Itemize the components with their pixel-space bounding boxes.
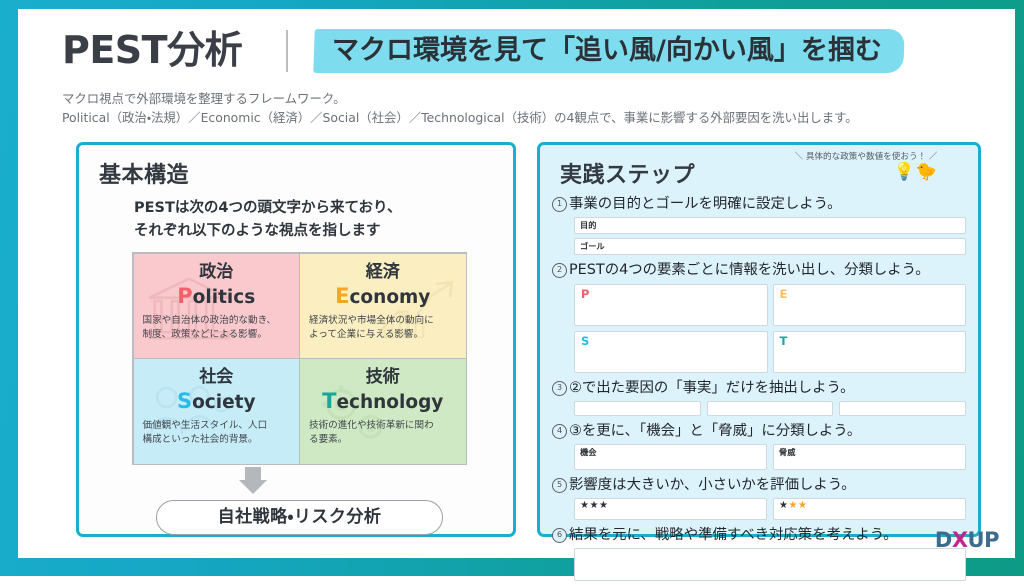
step-item-2: 2PESTの4つの要素ごとに情報を洗い出し、分類しよう。 P E S xyxy=(552,259,966,373)
pest-initial-p: P xyxy=(177,284,192,308)
pest-desc-line-2: る要素。 xyxy=(309,433,457,447)
pest-cell-desc: 経済状況や市場全体の動向に よって企業に与える影響。 xyxy=(309,314,457,342)
pest-cell-title-en: Technology xyxy=(309,388,457,416)
purpose-label: 目的 xyxy=(580,220,596,230)
countermeasure-input[interactable] xyxy=(574,548,966,581)
pest-desc-line-1: 経済状況や市場全体の動向に xyxy=(309,314,457,328)
step-item-6: 6結果を元に、戦略や準備すべき対応策を考えよう。 xyxy=(552,524,966,581)
impact-rating-input-2[interactable]: ★★★ xyxy=(773,498,966,520)
pest-initial-e: E xyxy=(335,284,349,308)
subtitle-line-1: マクロ視点で外部環境を整理するフレームワーク。 xyxy=(62,89,995,108)
impact-rating-input-1[interactable]: ★★★ xyxy=(574,498,767,520)
fact-input-1[interactable] xyxy=(574,401,701,416)
pest-cell-society: 社会 Society 価値観や生活スタイル、人口 構成といった社会的背景。 xyxy=(133,358,301,465)
pest-cell-politics: 政治 Politics 国家や自治体の政治的な動き、 制度、政策などによる影響。 xyxy=(133,253,301,360)
pest-desc-line-1: 国家や自治体の政治的な動き、 xyxy=(143,314,291,328)
star-rating-2: ★★★ xyxy=(779,500,807,512)
step-4-fields: 機会 脅威 xyxy=(574,444,966,470)
opportunity-input[interactable]: 機会 xyxy=(574,444,767,470)
step-number: 5 xyxy=(552,478,567,493)
page-subtitle: マクロ視点で外部環境を整理するフレームワーク。 Political（政治・法規）… xyxy=(62,89,995,127)
opportunity-label: 機会 xyxy=(580,447,596,457)
lead-line-1: PESTは次の4つの頭文字から来ており、 xyxy=(134,197,499,220)
pest-rest-t: echnology xyxy=(336,392,443,413)
step-5-fields: ★★★ ★★★ xyxy=(574,498,966,520)
threat-label: 脅威 xyxy=(779,447,795,457)
pest-cell-title-jp: 技術 xyxy=(309,366,457,388)
slide-canvas: PEST分析 マクロ環境を見て「追い風/向かい風」を掴む マクロ視点で外部環境を… xyxy=(18,9,1015,558)
title-banner-wrapper: マクロ環境を見て「追い風/向かい風」を掴む xyxy=(314,29,904,73)
title-divider xyxy=(286,30,288,72)
step-title: 4③を更に、「機会」と「脅威」に分類しよう。 xyxy=(552,420,966,442)
subtitle-line-2: Political（政治・法規）／Economic（経済）／Social（社会）… xyxy=(62,108,995,127)
step-item-1: 1事業の目的とゴールを明確に設定しよう。 目的 ゴール xyxy=(552,193,966,255)
pest-cell-title-en: Economy xyxy=(309,283,457,311)
step-3-fields xyxy=(574,401,966,416)
step-title: 6結果を元に、戦略や準備すべき対応策を考えよう。 xyxy=(552,524,966,546)
pest-cell-title-en: Society xyxy=(143,388,291,416)
step-title: 1事業の目的とゴールを明確に設定しよう。 xyxy=(552,193,966,215)
pest-input-letter-e: E xyxy=(780,288,788,301)
pest-initial-t: T xyxy=(322,389,336,413)
slide-background: PEST分析 マクロ環境を見て「追い風/向かい風」を掴む マクロ視点で外部環境を… xyxy=(0,0,1024,576)
pest-input-t[interactable]: T xyxy=(773,331,967,373)
step-number: 2 xyxy=(552,263,567,278)
goal-input[interactable]: ゴール xyxy=(574,238,966,255)
pest-cell-economy: 経済 Economy 経済状況や市場全体の動向に よって企業に与える影響。 xyxy=(299,253,467,360)
pest-desc-line-2: よって企業に与える影響。 xyxy=(309,328,457,342)
fact-input-2[interactable] xyxy=(707,401,834,416)
step-title-text: ③を更に、「機会」と「脅威」に分類しよう。 xyxy=(569,423,861,439)
basic-structure-heading: 基本構造 xyxy=(99,157,189,189)
step-title: 5影響度は大きいか、小さいかを評価しよう。 xyxy=(552,474,966,496)
pest-input-s[interactable]: S xyxy=(574,331,768,373)
lead-line-2: それぞれ以下のような視点を指します xyxy=(134,220,499,243)
pest-input-p[interactable]: P xyxy=(574,284,768,326)
step-2-fields: P E S T xyxy=(574,284,966,373)
pest-desc-line-2: 制度、政策などによる影響。 xyxy=(143,328,291,342)
step-title-text: ②で出た要因の「事実」だけを抽出しよう。 xyxy=(569,380,854,396)
purpose-input[interactable]: 目的 xyxy=(574,217,966,234)
pest-desc-line-2: 構成といった社会的背景。 xyxy=(143,433,291,447)
basic-structure-lead: PESTは次の4つの頭文字から来ており、 それぞれ以下のような視点を指します xyxy=(134,197,499,243)
pest-rest-p: olitics xyxy=(193,287,256,308)
page-title: PEST分析 xyxy=(62,26,242,74)
steps-list: 1事業の目的とゴールを明確に設定しよう。 目的 ゴール xyxy=(552,193,966,585)
pest-desc-line-1: 価値観や生活スタイル、人口 xyxy=(143,419,291,433)
pest-input-letter-t: T xyxy=(780,335,788,348)
pest-cell-desc: 価値観や生活スタイル、人口 構成といった社会的背景。 xyxy=(143,419,291,447)
practice-steps-heading: 実践ステップ xyxy=(560,157,695,189)
basic-structure-panel: 基本構造 PESTは次の4つの頭文字から来ており、 それぞれ以下のような視点を指… xyxy=(76,142,516,537)
step-number: 1 xyxy=(552,197,567,212)
step-title-text: 事業の目的とゴールを明確に設定しよう。 xyxy=(569,196,842,212)
logo-part-2: UP xyxy=(968,528,999,552)
logo-x: X xyxy=(952,528,968,552)
step-6-fields xyxy=(574,548,966,581)
pest-input-e[interactable]: E xyxy=(773,284,967,326)
step-number: 4 xyxy=(552,424,567,439)
pest-matrix: 政治 Politics 国家や自治体の政治的な動き、 制度、政策などによる影響。 xyxy=(132,252,467,465)
pest-initial-s: S xyxy=(177,389,192,413)
step-number: 3 xyxy=(552,381,567,396)
step-1-fields: 目的 xyxy=(574,217,966,234)
pest-rest-s: ociety xyxy=(192,392,255,413)
pest-cell-title-jp: 政治 xyxy=(143,261,291,283)
step-title-text: 影響度は大きいか、小さいかを評価しよう。 xyxy=(569,477,856,493)
step-item-3: 3②で出た要因の「事実」だけを抽出しよう。 xyxy=(552,377,966,416)
step-number: 6 xyxy=(552,528,567,543)
step-title-text: PESTの4つの要素ごとに情報を洗い出し、分類しよう。 xyxy=(569,262,930,278)
title-banner: マクロ環境を見て「追い風/向かい風」を掴む xyxy=(313,29,904,73)
dxup-logo: DXUP xyxy=(935,528,999,552)
pest-desc-line-1: 技術の進化や技術革新に関わ xyxy=(309,419,457,433)
pest-cell-title-jp: 経済 xyxy=(309,261,457,283)
star-rating-1: ★★★ xyxy=(580,500,608,512)
pest-rest-e: conomy xyxy=(349,287,430,308)
lightbulb-chick-icon: 💡🐤 xyxy=(894,162,938,182)
goal-label: ゴール xyxy=(580,241,605,251)
pest-input-letter-p: P xyxy=(581,288,589,301)
pest-input-letter-s: S xyxy=(581,335,589,348)
pest-cell-technology: 技術 Technology 技術の進化や技術革新に関わ る要素。 xyxy=(299,358,467,465)
step-item-5: 5影響度は大きいか、小さいかを評価しよう。 ★★★ ★★★ xyxy=(552,474,966,520)
slide-header: PEST分析 マクロ環境を見て「追い風/向かい風」を掴む xyxy=(62,22,995,84)
step-item-4: 4③を更に、「機会」と「脅威」に分類しよう。 機会 脅威 xyxy=(552,420,966,470)
step-title-text: 結果を元に、戦略や準備すべき対応策を考えよう。 xyxy=(569,527,898,543)
step-title: 2PESTの4つの要素ごとに情報を洗い出し、分類しよう。 xyxy=(552,259,966,281)
logo-part-1: D xyxy=(935,528,952,552)
pest-cell-desc: 国家や自治体の政治的な動き、 制度、政策などによる影響。 xyxy=(143,314,291,342)
threat-input[interactable]: 脅威 xyxy=(773,444,966,470)
result-pill: 自社戦略・リスク分析 xyxy=(156,500,443,535)
step-title: 3②で出た要因の「事実」だけを抽出しよう。 xyxy=(552,377,966,399)
pest-cell-title-en: Politics xyxy=(143,283,291,311)
pest-cell-desc: 技術の進化や技術革新に関わ る要素。 xyxy=(309,419,457,447)
title-banner-label: マクロ環境を見て「追い風/向かい風」を掴む xyxy=(332,29,882,73)
fact-input-3[interactable] xyxy=(839,401,966,416)
pest-cell-title-jp: 社会 xyxy=(143,366,291,388)
practice-steps-panel: 実践ステップ ＼ 具体的な政策や数値を使おう！ ／ 💡🐤 1事業の目的とゴールを… xyxy=(537,142,981,537)
